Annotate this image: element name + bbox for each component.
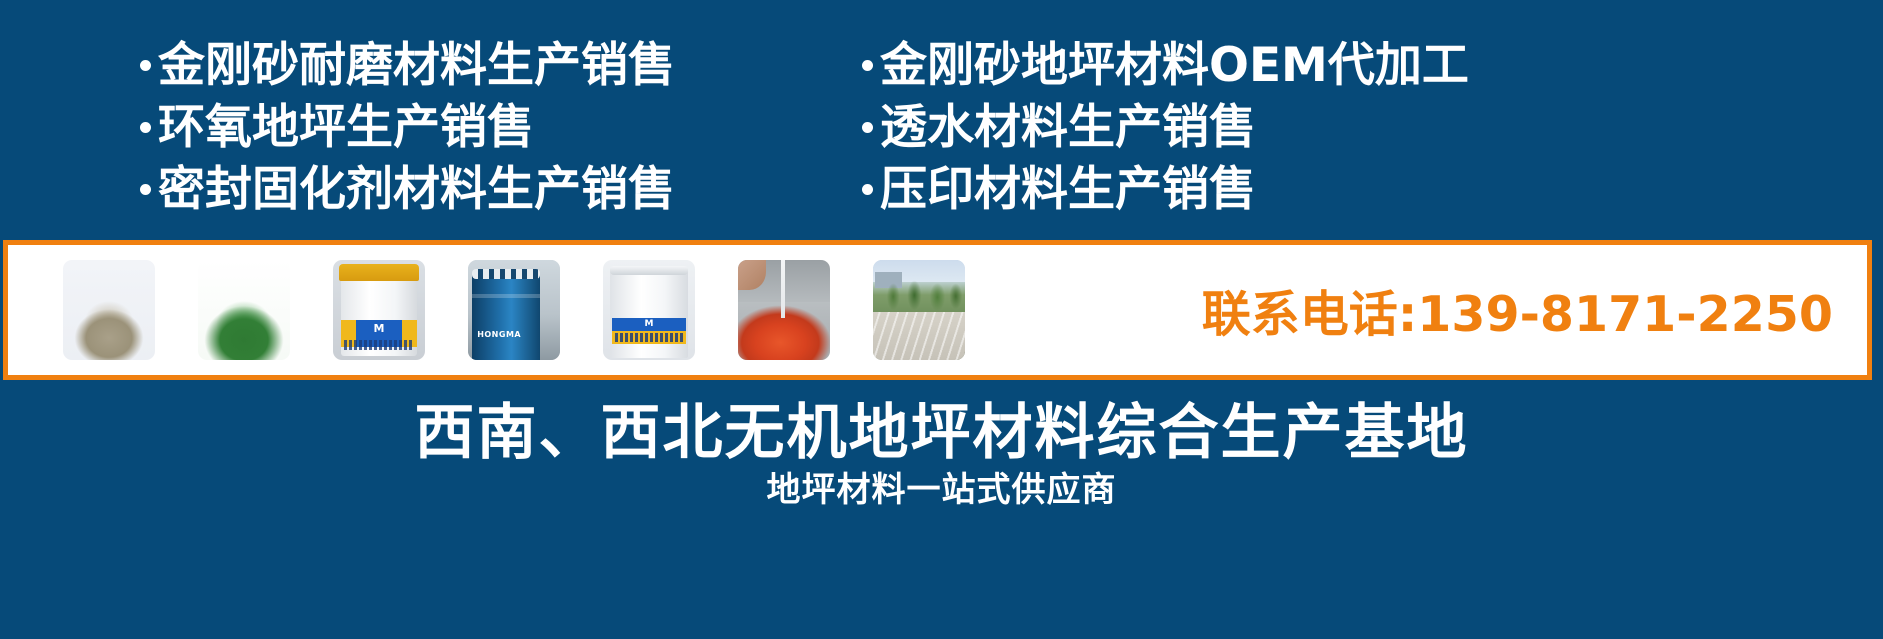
advertising-banner: 金刚砂耐磨材料生产销售 环氧地坪生产销售 密封固化剂材料生产销售 金刚砂地坪材料… [0, 0, 1883, 639]
bullet-dot-icon [140, 60, 151, 71]
bullet-dot-icon [140, 184, 151, 195]
service-item: 环氧地坪生产销售 [140, 98, 675, 156]
product-photo-strip: M HONGMA M [8, 245, 965, 375]
bullet-dot-icon [140, 122, 151, 133]
footer-headline: 西南、西北无机地坪材料综合生产基地 [0, 384, 1883, 471]
brand-m-logo-icon: M [640, 318, 658, 331]
product-photo-epoxy-floor-coating-pail: M [603, 260, 695, 360]
service-item: 密封固化剂材料生产销售 [140, 160, 675, 218]
service-item: 金刚砂地坪材料OEM代加工 [862, 36, 1469, 94]
bullet-dot-icon [862, 184, 873, 195]
service-item: 压印材料生产销售 [862, 160, 1469, 218]
product-photo-permeable-pavement-path [873, 260, 965, 360]
product-photo-red-permeable-coating-spray [738, 260, 830, 360]
brand-m-logo-icon: M [370, 322, 388, 338]
service-item: 金刚砂耐磨材料生产销售 [140, 36, 675, 94]
bullet-dot-icon [862, 60, 873, 71]
service-label: 金刚砂地坪材料OEM代加工 [880, 42, 1469, 89]
product-showcase-panel: M HONGMA M [3, 240, 1872, 380]
hongma-brand-text: HONGMA [477, 330, 521, 339]
bullet-dot-icon [862, 122, 873, 133]
product-photo-emery-wear-resistant-powder [63, 260, 155, 360]
services-right-column: 金刚砂地坪材料OEM代加工 透水材料生产销售 压印材料生产销售 [862, 36, 1469, 222]
footer-subtitle: 地坪材料一站式供应商 [0, 462, 1883, 511]
service-item: 透水材料生产销售 [862, 98, 1469, 156]
contact-phone-number[interactable]: 联系电话:139-8171-2250 [1202, 275, 1867, 346]
service-label: 压印材料生产销售 [880, 166, 1256, 213]
product-photo-concrete-sealer-pail: M [333, 260, 425, 360]
product-photo-hongma-blue-steel-drum: HONGMA [468, 260, 560, 360]
service-label: 透水材料生产销售 [880, 104, 1256, 151]
service-label: 密封固化剂材料生产销售 [158, 166, 675, 213]
service-label: 环氧地坪生产销售 [158, 104, 534, 151]
services-left-column: 金刚砂耐磨材料生产销售 环氧地坪生产销售 密封固化剂材料生产销售 [140, 36, 675, 222]
product-photo-green-color-hardener-powder [198, 260, 290, 360]
service-label: 金刚砂耐磨材料生产销售 [158, 42, 675, 89]
